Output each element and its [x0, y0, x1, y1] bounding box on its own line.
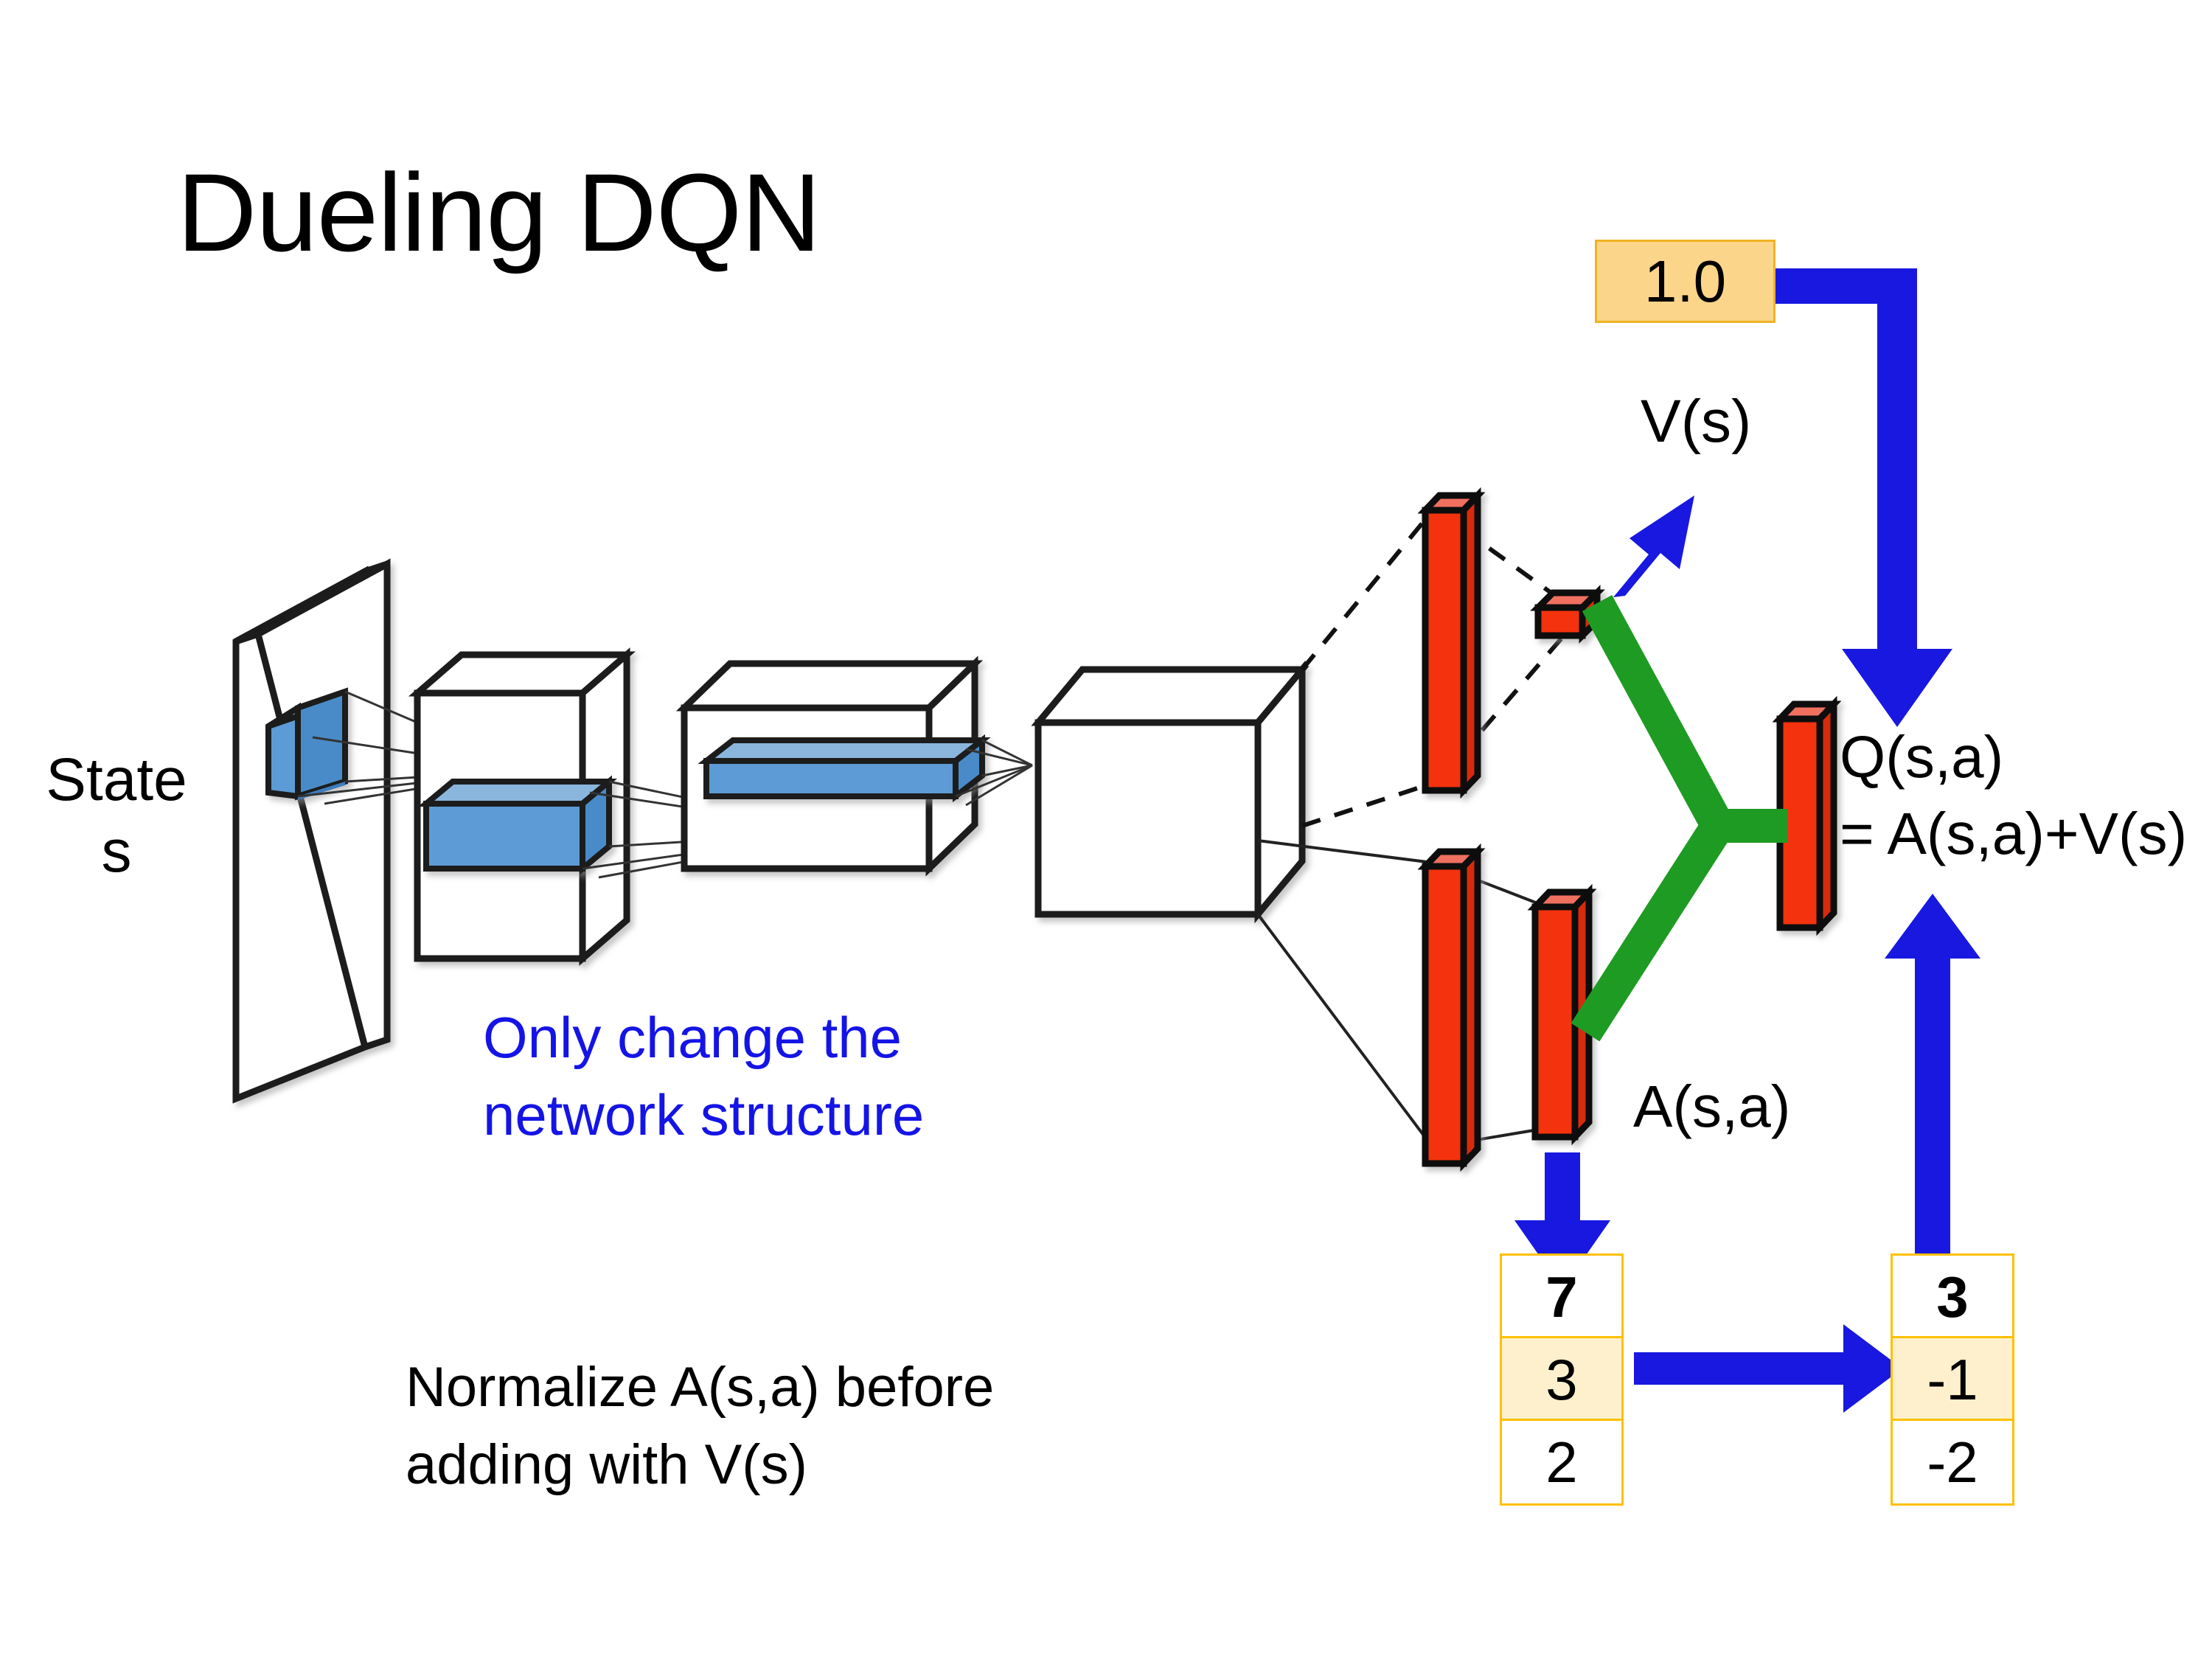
advantage-stream-connections [1258, 841, 1547, 1147]
table-row: -1 [1893, 1338, 2012, 1421]
normalize-note-line1: Normalize A(s,a) before [406, 1356, 994, 1419]
blue-note-line1: Only change the [483, 1005, 902, 1070]
conv-block-3 [1038, 669, 1302, 914]
normalize-note: Normalize A(s,a) beforeadding with V(s) [406, 1349, 994, 1504]
fc-bar-value [1425, 495, 1478, 790]
blue-note-line2: network structure [483, 1082, 924, 1147]
arrow-q-up [1885, 894, 1980, 1253]
table-row: 7 [1502, 1256, 1621, 1338]
conv-filter-2 [706, 740, 982, 796]
page-title: Dueling DQN [177, 155, 821, 271]
q-label-line2: = A(s,a)+V(s) [1840, 801, 2187, 866]
input-state-label: States [21, 745, 212, 888]
value-scalar-value: 1.0 [1597, 242, 1773, 321]
table-row: -2 [1893, 1421, 2012, 1503]
value-scalar-box: 1.0 [1595, 240, 1775, 323]
table-row: 3 [1502, 1338, 1621, 1421]
input-state-plane [236, 564, 387, 1099]
conv-filter-1 [426, 782, 609, 869]
arrow-normalize-right [1634, 1324, 1902, 1413]
fc-bar-advantage [1425, 852, 1478, 1164]
value-stream-label: V(s) [1641, 387, 1751, 456]
table-row: 3 [1893, 1256, 2012, 1338]
state-label-line2: s [102, 818, 132, 885]
q-label-line1: Q(s,a) [1840, 724, 2003, 790]
table-row: 2 [1502, 1421, 1621, 1503]
state-label-line1: State [46, 746, 187, 813]
green-merge-connector [1585, 603, 1787, 1032]
advantage-stream-label: A(s,a) [1633, 1073, 1790, 1141]
normalized-advantage-table: 3 -1 -2 [1891, 1253, 2014, 1506]
arrow-value-to-q [1775, 268, 1952, 727]
normalize-note-line2: adding with V(s) [406, 1433, 807, 1496]
q-output-bar [1780, 704, 1834, 928]
slide-canvas: Dueling DQN States Only change thenetwor… [0, 0, 2212, 1659]
blue-note: Only change thenetwork structure [483, 999, 924, 1155]
advantage-table: 7 3 2 [1500, 1253, 1624, 1506]
q-output-label: Q(s,a)= A(s,a)+V(s) [1840, 719, 2187, 872]
arrow-value-up [1613, 495, 1694, 597]
